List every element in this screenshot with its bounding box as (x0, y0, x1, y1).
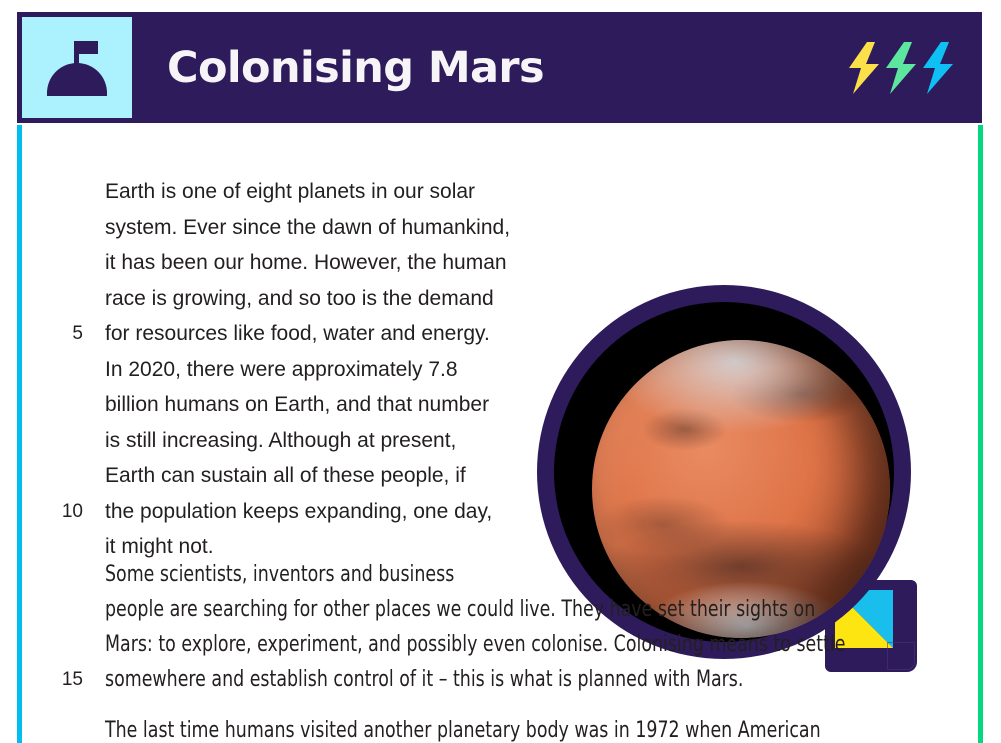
line-text: race is growing, and so too is the deman… (105, 281, 494, 317)
paragraph-2: Some scientists, inventors and business … (105, 557, 905, 697)
text-line: 10 the population keeps expanding, one d… (105, 494, 505, 530)
text-line: it has been our home. However, the human (105, 245, 505, 281)
text-line: Earth can sustain all of these people, i… (105, 458, 505, 494)
line-text: billion humans on Earth, and that number (105, 387, 489, 423)
text-line: Mars: to explore, experiment, and possib… (105, 627, 905, 662)
lightning-bolt-yellow-icon (847, 42, 881, 94)
line-text: Mars: to explore, experiment, and possib… (105, 627, 845, 662)
text-line: people are searching for other places we… (105, 592, 905, 627)
text-line: The last time humans visited another pla… (105, 713, 925, 743)
text-line: In 2020, there were approximately 7.8 (105, 352, 505, 388)
text-line: 5 for resources like food, water and ene… (105, 316, 505, 352)
line-text: the population keeps expanding, one day, (105, 494, 492, 530)
line-text: Some scientists, inventors and business (105, 557, 454, 592)
line-text: somewhere and establish control of it – … (105, 662, 743, 697)
line-text: for resources like food, water and energ… (105, 316, 490, 352)
worksheet-page: Colonising Mars (0, 0, 1001, 743)
line-number: 15 (43, 662, 83, 697)
line-number: 10 (43, 494, 83, 530)
line-text: In 2020, there were approximately 7.8 (105, 352, 458, 388)
text-line: Some scientists, inventors and business (105, 557, 905, 592)
lightning-bolt-green-icon (884, 42, 918, 94)
line-text: system. Ever since the dawn of humankind… (105, 210, 510, 246)
header-icon-box (22, 17, 132, 118)
text-line: is still increasing. Although at present… (105, 423, 505, 459)
lightning-bolt-cyan-icon (921, 42, 955, 94)
line-text: people are searching for other places we… (105, 592, 815, 627)
page-header: Colonising Mars (17, 12, 982, 123)
line-text: it has been our home. However, the human (105, 245, 507, 281)
passage-content: Earth is one of eight planets in our sol… (0, 125, 1001, 743)
dome-with-flag-icon (43, 37, 111, 99)
line-number: 5 (43, 316, 83, 352)
text-line: system. Ever since the dawn of humankind… (105, 210, 505, 246)
lightning-bolts-decoration (847, 42, 955, 94)
text-line: race is growing, and so too is the deman… (105, 281, 505, 317)
text-line: 15 somewhere and establish control of it… (105, 662, 905, 697)
line-text: The last time humans visited another pla… (105, 713, 821, 743)
line-text: Earth can sustain all of these people, i… (105, 458, 466, 494)
page-title: Colonising Mars (167, 43, 544, 93)
line-text: is still increasing. Although at present… (105, 423, 456, 459)
paragraph-1: Earth is one of eight planets in our sol… (105, 174, 505, 565)
text-line: billion humans on Earth, and that number (105, 387, 505, 423)
text-line: Earth is one of eight planets in our sol… (105, 174, 505, 210)
line-text: Earth is one of eight planets in our sol… (105, 174, 475, 210)
paragraph-3: The last time humans visited another pla… (105, 713, 925, 743)
